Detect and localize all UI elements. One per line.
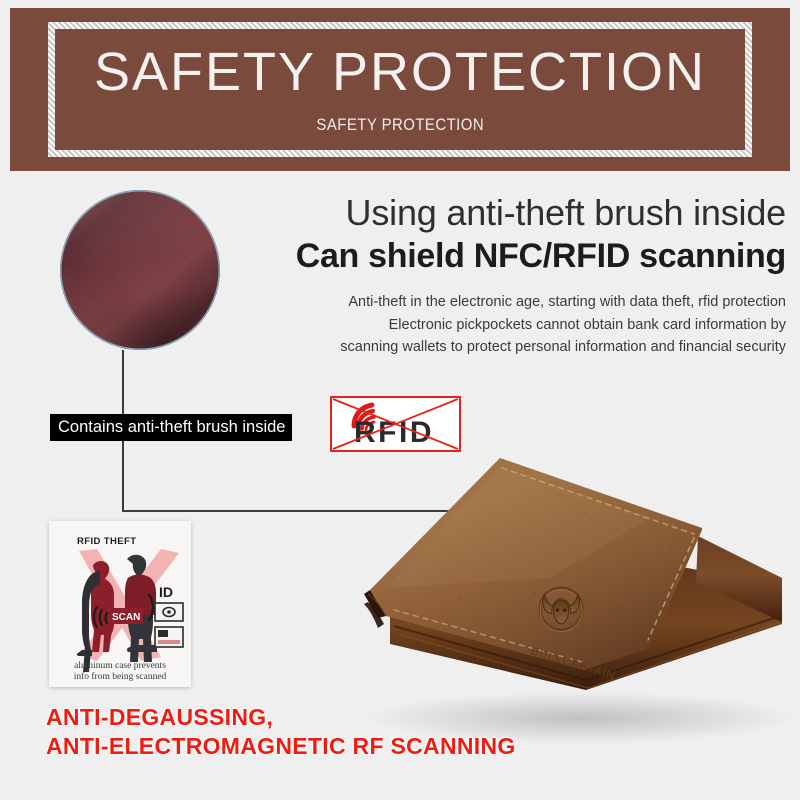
theft-card-caption-line-1: aluminum case prevents	[74, 661, 166, 671]
header-banner: SAFETY PROTECTION SAFETY PROTECTION	[10, 8, 790, 171]
bottom-claim-line-1: ANTI-DEGAUSSING,	[46, 703, 516, 732]
fabric-shading	[60, 190, 220, 350]
theft-card-title: RFID THEFT	[77, 536, 136, 547]
product-feature-image: SAFETY PROTECTION SAFETY PROTECTION Usin…	[0, 0, 800, 800]
header-hatched-frame: SAFETY PROTECTION SAFETY PROTECTION	[48, 22, 752, 157]
bottom-claim-line-2: ANTI-ELECTROMAGNETIC RF SCANNING	[46, 732, 516, 761]
rfid-theft-info-card: RFID THEFT	[49, 521, 191, 687]
body-copy-line-3: scanning wallets to protect personal inf…	[238, 336, 786, 358]
scan-label: SCAN	[112, 612, 140, 623]
theft-card-caption-line-2: info from being scanned	[74, 671, 167, 682]
headline-block: Using anti-theft brush inside Can shield…	[238, 192, 786, 359]
body-copy-line-1: Anti-theft in the electronic age, starti…	[238, 291, 786, 313]
body-copy-line-2: Electronic pickpockets cannot obtain ban…	[238, 314, 786, 336]
fabric-swatch-circle	[60, 190, 220, 350]
header-frame-inner: SAFETY PROTECTION SAFETY PROTECTION	[55, 29, 745, 150]
id-label: ID	[159, 584, 173, 600]
callout-label-brush: Contains anti-theft brush inside	[50, 414, 292, 441]
page-subtitle: SAFETY PROTECTION	[316, 115, 484, 135]
cash-icon	[155, 603, 183, 621]
bottom-claim-text: ANTI-DEGAUSSING, ANTI-ELECTROMAGNETIC RF…	[46, 703, 516, 762]
id-card-icon	[155, 627, 183, 647]
page-title: SAFETY PROTECTION	[94, 45, 706, 99]
headline-line-2: Can shield NFC/RFID scanning	[238, 236, 786, 277]
body-copy: Anti-theft in the electronic age, starti…	[238, 291, 786, 358]
wallet-product-image: BULLCAPTAIN	[350, 418, 800, 748]
headline-line-1: Using anti-theft brush inside	[238, 192, 786, 234]
